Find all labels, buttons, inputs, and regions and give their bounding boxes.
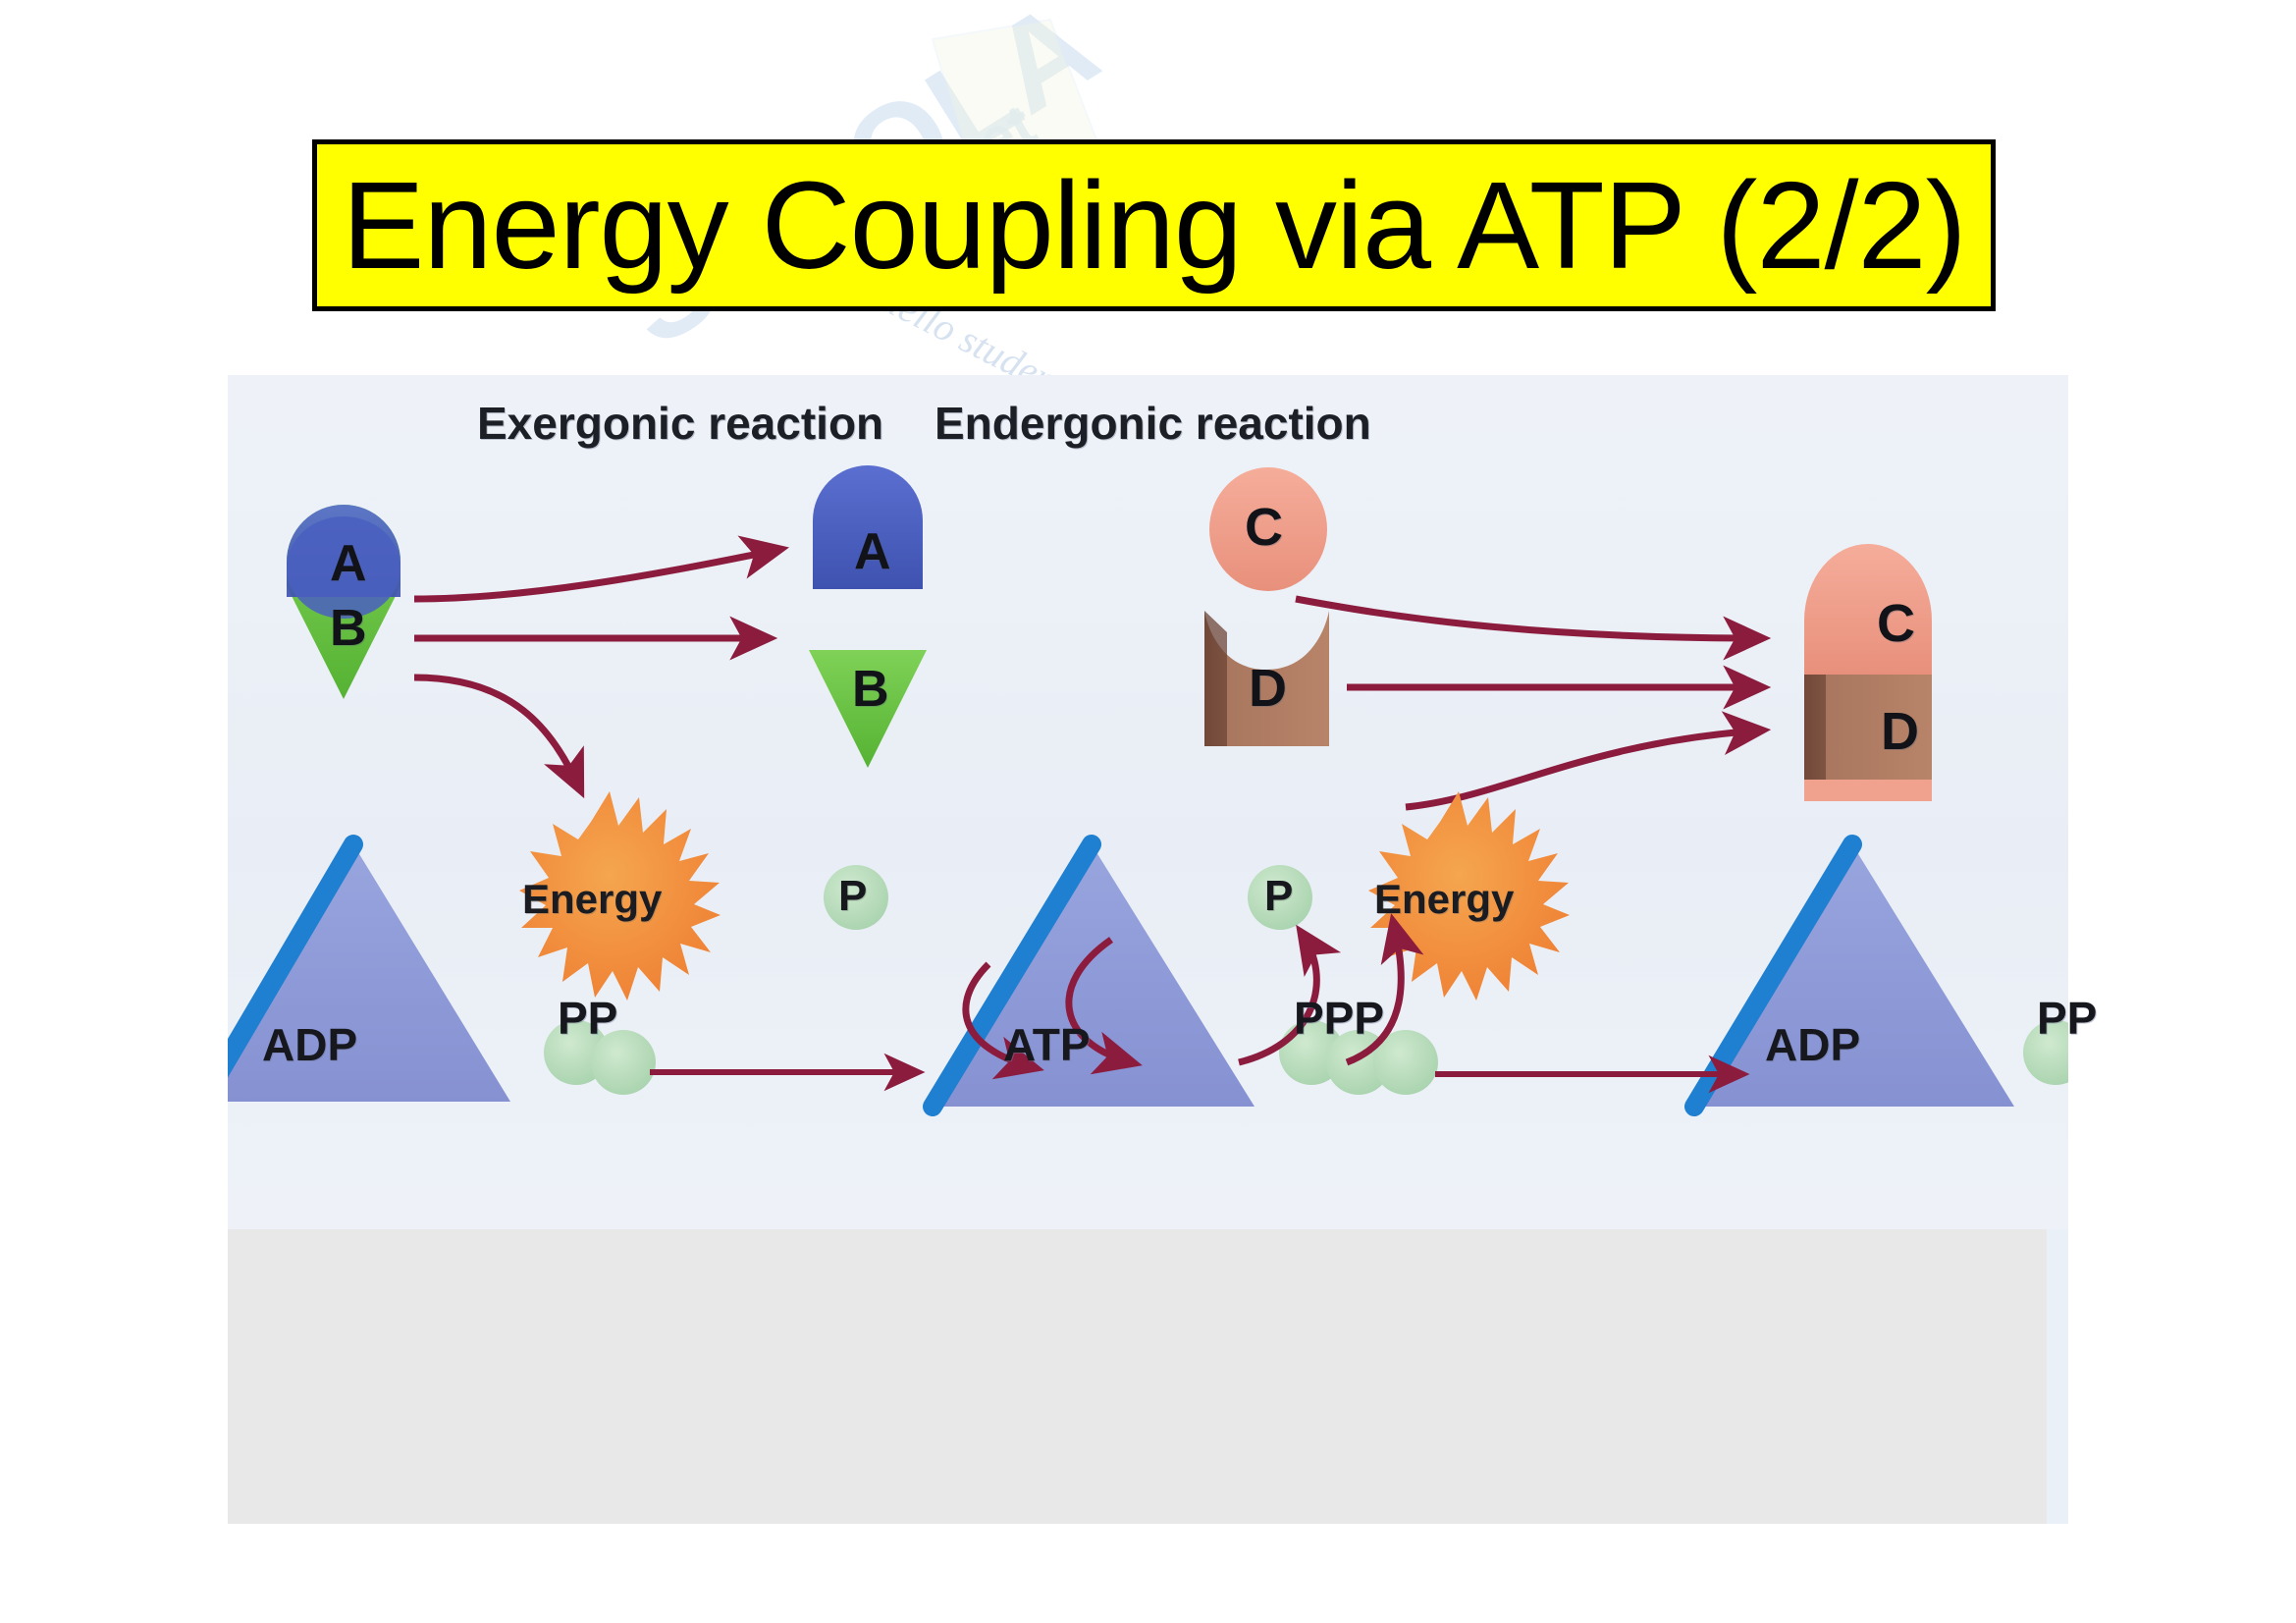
arrow-ab-to-a (414, 550, 777, 599)
arrow-ab-to-energy (414, 677, 579, 787)
label-adp-left: ADP (262, 1018, 357, 1071)
label-atp: ATP (1003, 1018, 1091, 1071)
label-b-product: B (852, 660, 889, 719)
label-phosphates-adp-left: PP (558, 992, 617, 1045)
label-ab-bottom: B (330, 599, 367, 658)
header-endergonic: Endergonic reaction (934, 397, 1371, 450)
label-a-product: A (854, 522, 891, 581)
page-title: Energy Coupling via ATP (2/2) (342, 164, 1965, 288)
label-phosphate-right: P (1264, 872, 1293, 921)
arrow-c-to-cd (1296, 599, 1759, 638)
label-cd-bottom: D (1881, 701, 1919, 762)
label-energy-left: Energy (522, 876, 662, 923)
label-cd-top: C (1877, 593, 1915, 654)
molecule-cd-product (1804, 544, 1932, 801)
diagram-figure: Exergonic reaction Endergonic reaction A… (228, 375, 2068, 1234)
label-phosphate-left: P (838, 872, 867, 921)
label-phosphates-adp-right: PP (2037, 992, 2097, 1045)
diagram-graphics (228, 375, 2068, 1234)
blank-content-panel (228, 1229, 2047, 1524)
blank-panel-side-strip (2047, 1229, 2068, 1524)
nucleotide-adp-right (1690, 844, 2068, 1107)
label-d-reactant: D (1249, 658, 1287, 719)
label-c-reactant: C (1245, 497, 1283, 558)
slide-title-banner: Energy Coupling via ATP (2/2) (312, 139, 1996, 311)
header-exergonic: Exergonic reaction (477, 397, 883, 450)
label-adp-right: ADP (1765, 1018, 1860, 1071)
label-energy-right: Energy (1374, 876, 1514, 923)
label-ab-top: A (330, 534, 367, 593)
label-phosphates-atp: PPP (1294, 992, 1384, 1045)
